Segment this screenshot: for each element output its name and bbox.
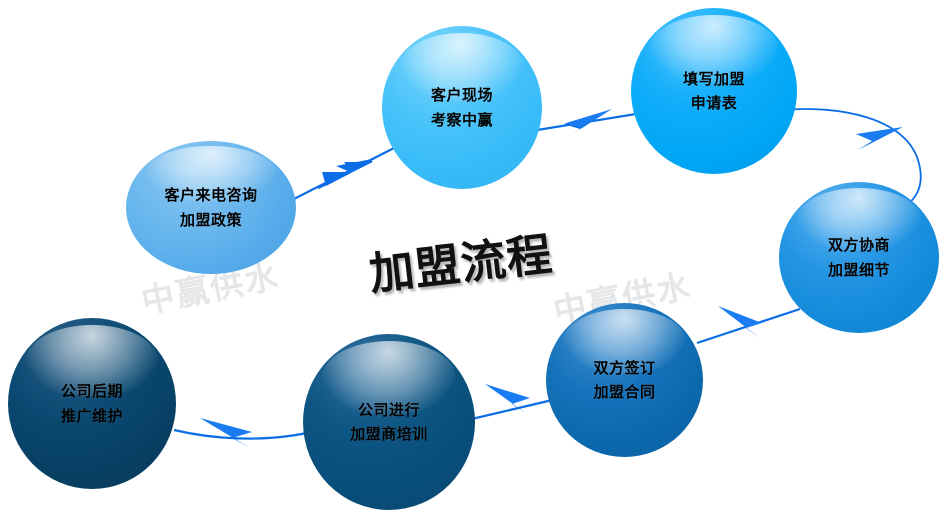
step-label-6-line2: 加盟商培训 <box>350 422 428 446</box>
step-label-6-line1: 公司进行 <box>358 398 420 422</box>
step-node-4[interactable]: 双方协商 加盟细节 <box>779 182 939 333</box>
step-node-7[interactable]: 公司后期 推广维护 <box>8 318 176 489</box>
step-label-3-line1: 填写加盟 <box>683 67 745 91</box>
connector-1-to-2 <box>292 146 398 200</box>
step-label-5-line2: 加盟合同 <box>593 380 655 404</box>
step-label-5-line1: 双方签订 <box>593 356 655 380</box>
step-node-3[interactable]: 填写加盟 申请表 <box>631 8 797 174</box>
step-label-2-line1: 客户现场 <box>431 83 493 107</box>
step-label-4-line2: 加盟细节 <box>828 258 890 282</box>
connector-4-to-5 <box>697 306 800 343</box>
connector-2-to-3 <box>531 109 648 138</box>
step-label-1-line2: 加盟政策 <box>180 208 242 232</box>
flowchart-canvas: 中赢供水 中赢供水 客户来电咨询 加盟政策 客户现场 考察中赢 填写加盟 申请表… <box>0 0 944 517</box>
step-label-7-line1: 公司后期 <box>61 379 123 403</box>
step-label-4-line1: 双方协商 <box>828 233 890 257</box>
step-node-1[interactable]: 客户来电咨询 加盟政策 <box>126 141 296 274</box>
step-label-3-line2: 申请表 <box>691 91 738 115</box>
step-label-7-line2: 推广维护 <box>61 404 123 428</box>
step-node-2[interactable]: 客户现场 考察中赢 <box>382 26 542 189</box>
step-label-2-line2: 考察中赢 <box>431 108 493 132</box>
step-node-6[interactable]: 公司进行 加盟商培训 <box>303 334 475 510</box>
step-node-5[interactable]: 双方签订 加盟合同 <box>546 303 703 457</box>
step-label-1-line1: 客户来电咨询 <box>164 183 257 207</box>
connector-6-to-7 <box>174 418 316 448</box>
